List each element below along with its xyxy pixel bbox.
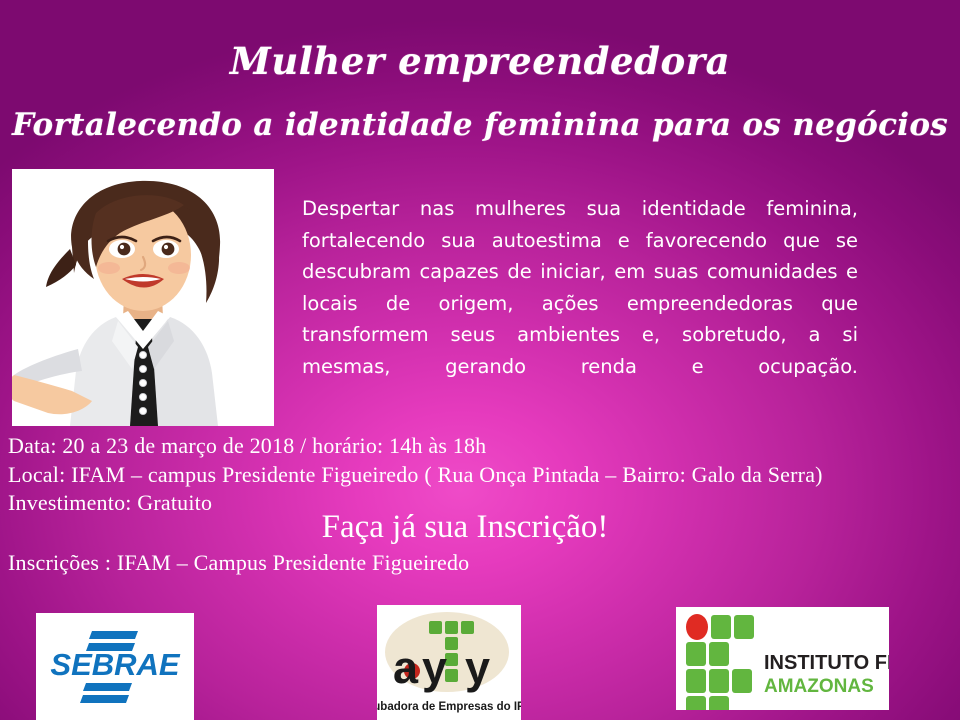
ifam-wordmark-line2: AMAZONAS [764, 676, 874, 697]
ifam-logo-icon: INSTITUTO FEDERAL AMAZONAS [676, 607, 889, 710]
body-paragraph: Despertar nas mulheres sua identidade fe… [302, 193, 858, 414]
ifam-wordmark-line1: INSTITUTO FEDERAL [764, 652, 889, 674]
ifam-logo-panel: INSTITUTO FEDERAL AMAZONAS [676, 607, 889, 710]
businesswoman-illustration [12, 169, 274, 426]
title-block: Mulher empreendedora Fortalecendo a iden… [0, 38, 960, 145]
ayty-logo-panel: a y y Incubadora de Empresas do IFAM [377, 605, 521, 720]
detail-date: Data: 20 a 23 de março de 2018 / horário… [8, 432, 948, 461]
signup-info: Inscrições : IFAM – Campus Presidente Fi… [8, 549, 469, 577]
ayty-letter-a: a [393, 642, 419, 693]
illustration-frame [12, 169, 274, 426]
ayty-letter-y2: y [465, 642, 490, 693]
call-to-action: Faça já sua Inscrição! [0, 507, 960, 547]
sebrae-wordmark: SEBRAE [50, 647, 181, 682]
ayty-tagline: Incubadora de Empresas do IFAM [377, 701, 521, 713]
sebrae-logo-panel: SEBRAE [36, 613, 194, 720]
page-subtitle: Fortalecendo a identidade feminina para … [0, 105, 960, 145]
ayty-logo-icon: a y y Incubadora de Empresas do IFAM [377, 605, 521, 720]
ayty-letter-y1: y [422, 642, 447, 693]
detail-location: Local: IFAM – campus Presidente Figueire… [8, 461, 948, 490]
poster-canvas: Mulher empreendedora Fortalecendo a iden… [0, 0, 960, 720]
sebrae-logo-icon: SEBRAE [36, 613, 194, 720]
page-title: Mulher empreendedora [0, 38, 960, 84]
event-details: Data: 20 a 23 de março de 2018 / horário… [8, 432, 948, 518]
